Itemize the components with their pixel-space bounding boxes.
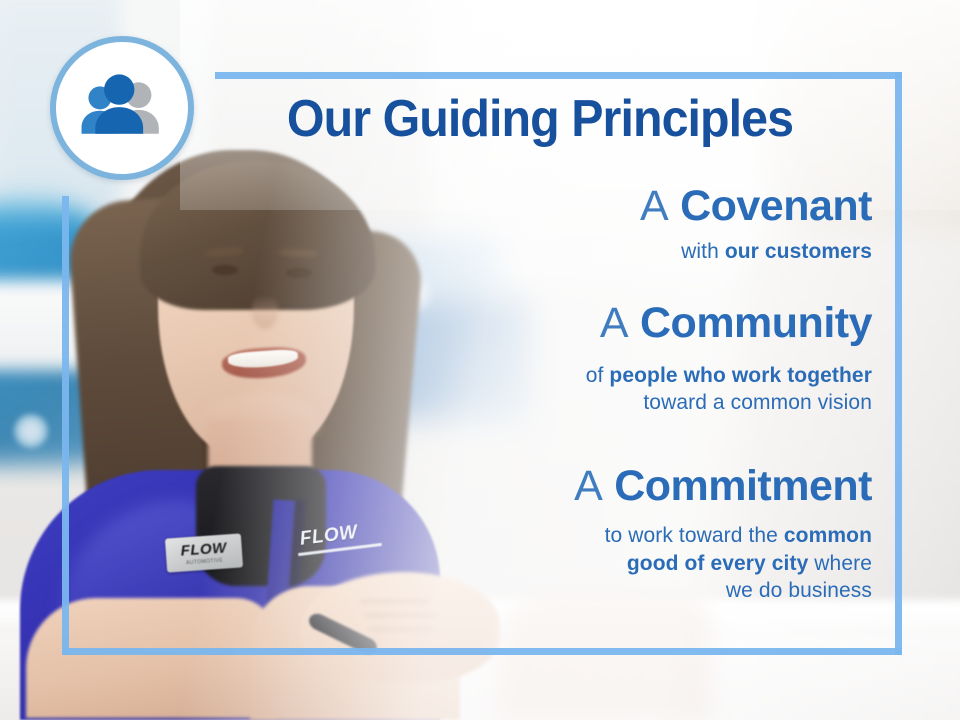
principle-commitment: A Commitment to work toward the commongo…	[120, 462, 872, 604]
principle-commitment-keyword: Commitment	[614, 462, 872, 510]
principle-community: A Community of people who work togethert…	[120, 299, 872, 416]
principle-commitment-heading: A Commitment	[120, 462, 872, 510]
principle-community-subtext: of people who work togethertoward a comm…	[120, 362, 872, 417]
principle-community-keyword: Community	[640, 299, 872, 347]
principles-list: A Covenant with our customers A Communit…	[120, 182, 872, 610]
principle-covenant-heading: A Covenant	[120, 182, 872, 230]
principle-commitment-lead: A	[574, 462, 603, 510]
page-title: Our Guiding Principles	[233, 92, 847, 147]
principle-commitment-subtext: to work toward the commongood of every c…	[120, 522, 872, 604]
principle-community-lead: A	[600, 299, 629, 347]
guiding-principles-poster: FLOW AUTOMOTIVE FLOW	[0, 0, 960, 720]
principle-community-heading: A Community	[120, 299, 872, 347]
people-group-icon-badge	[50, 36, 194, 180]
principle-covenant-lead: A	[640, 182, 669, 230]
principle-covenant: A Covenant with our customers	[120, 182, 872, 265]
people-group-icon	[76, 62, 168, 154]
principle-covenant-subtext: with our customers	[120, 238, 872, 265]
principle-covenant-keyword: Covenant	[680, 182, 872, 230]
